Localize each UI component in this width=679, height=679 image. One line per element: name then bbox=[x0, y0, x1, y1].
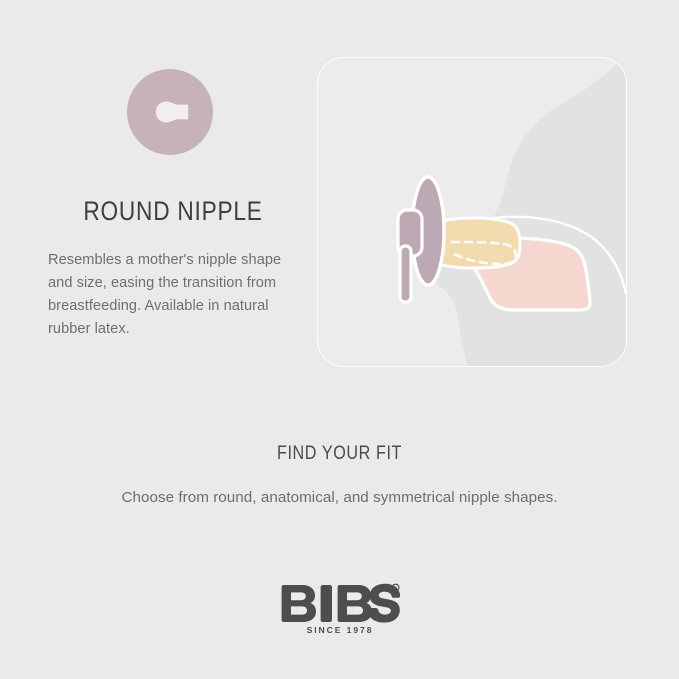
head-silhouette bbox=[424, 58, 626, 366]
brand-logo: R SINCE 1978 bbox=[0, 583, 679, 640]
logo-tagline: SINCE 1978 bbox=[306, 625, 373, 635]
find-your-fit-subtitle: Choose from round, anatomical, and symme… bbox=[0, 489, 679, 506]
heart-icon bbox=[292, 593, 299, 599]
bibs-logo-svg: R SINCE 1978 bbox=[280, 583, 400, 635]
logo-letter-b1 bbox=[281, 585, 315, 622]
feature-description: Resembles a mother's nipple shape and si… bbox=[48, 249, 298, 341]
round-nipple-shape-icon bbox=[126, 68, 214, 156]
pacifier-handle-stem bbox=[400, 246, 411, 302]
feature-title: ROUND NIPPLE bbox=[68, 196, 278, 227]
illustration-panel bbox=[318, 58, 626, 366]
shape-icon-cutout bbox=[156, 102, 188, 123]
product-feature-card: ROUND NIPPLE Resembles a mother's nipple… bbox=[0, 0, 679, 679]
bibs-wordmark: R bbox=[281, 584, 399, 623]
baby-mouth-cross-section-illustration bbox=[318, 58, 626, 366]
logo-letter-b2 bbox=[337, 585, 371, 622]
find-your-fit-title: FIND YOUR FIT bbox=[51, 443, 628, 465]
registered-trademark-letter: R bbox=[394, 585, 397, 590]
feature-text-column: ROUND NIPPLE Resembles a mother's nipple… bbox=[48, 68, 298, 341]
round-nipple-shape-icon-svg bbox=[126, 68, 214, 156]
logo-letter-i bbox=[320, 585, 331, 622]
find-your-fit-section: FIND YOUR FIT Choose from round, anatomi… bbox=[0, 443, 679, 506]
